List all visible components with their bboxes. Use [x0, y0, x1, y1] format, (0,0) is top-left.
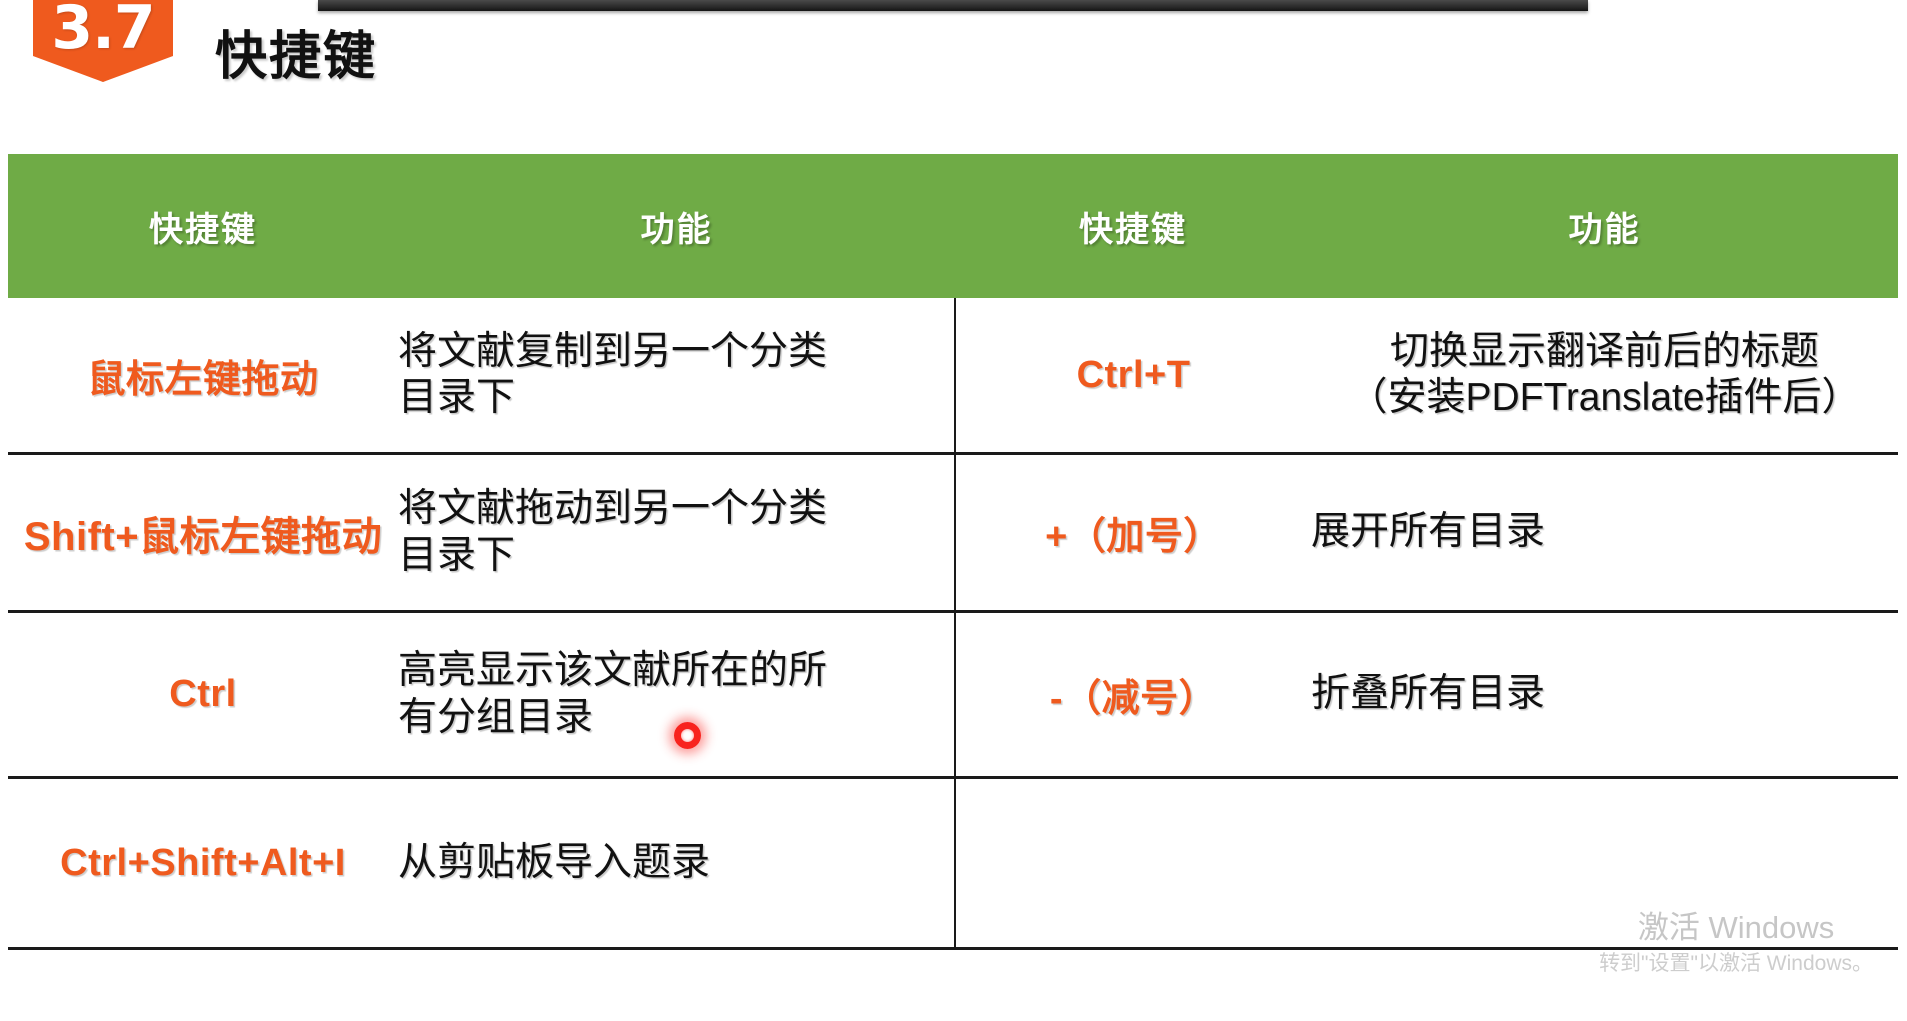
watermark-title: 激活 Windows	[1599, 910, 1873, 947]
shortcut-key-cell: 鼠标左键拖动	[8, 298, 398, 454]
table-header-row: 快捷键 功能 快捷键 功能	[8, 154, 1898, 298]
desc-line: 将文献复制到另一个分类	[398, 329, 954, 375]
section-number-badge: 3.7	[33, 0, 173, 82]
column-header-right-function: 功能	[1311, 154, 1898, 298]
shortcut-key-cell: -（减号）	[955, 612, 1311, 778]
column-header-left-function: 功能	[398, 154, 955, 298]
function-desc-cell: 折叠所有目录	[1311, 612, 1898, 778]
column-header-right-shortcut: 快捷键	[955, 154, 1311, 298]
section-number-label: 3.7	[51, 0, 154, 58]
desc-line: 有分组目录	[398, 695, 954, 741]
windows-activation-watermark: 激活 Windows 转到"设置"以激活 Windows。	[1599, 910, 1873, 977]
desc-line: 切换显示翻译前后的标题	[1311, 329, 1898, 375]
function-desc-cell: 切换显示翻译前后的标题 （安装PDFTranslate插件后）	[1311, 298, 1898, 454]
desc-line: 目录下	[398, 533, 954, 579]
desc-line: 目录下	[398, 375, 954, 421]
desc-line: 折叠所有目录	[1311, 671, 1898, 717]
slide-header: 3.7 快捷键	[0, 0, 1907, 132]
function-desc-cell: 展开所有目录	[1311, 454, 1898, 612]
column-header-left-shortcut: 快捷键	[8, 154, 398, 298]
desc-line: 将文献拖动到另一个分类	[398, 486, 954, 532]
table-row: Shift+鼠标左键拖动 将文献拖动到另一个分类 目录下 +（加号） 展开所有目…	[8, 454, 1898, 612]
desc-line: 展开所有目录	[1311, 509, 1898, 555]
table-row: Ctrl 高亮显示该文献所在的所 有分组目录 -（减号） 折叠所有目录	[8, 612, 1898, 778]
function-desc-cell: 将文献拖动到另一个分类 目录下	[398, 454, 955, 612]
shortcut-key-cell: +（加号）	[955, 454, 1311, 612]
shortcut-key-cell: Ctrl	[8, 612, 398, 778]
function-desc-cell: 从剪贴板导入题录	[398, 778, 955, 949]
page-title: 快捷键	[215, 14, 377, 89]
shortcut-table: 快捷键 功能 快捷键 功能 鼠标左键拖动 将文献复制到另一个分类 目录下 Ctr…	[8, 154, 1898, 950]
shortcut-key-cell: Shift+鼠标左键拖动	[8, 454, 398, 612]
shortcut-key-cell	[955, 778, 1311, 949]
desc-line: 从剪贴板导入题录	[398, 840, 954, 886]
desc-line: 高亮显示该文献所在的所	[398, 648, 954, 694]
desc-line: （安装PDFTranslate插件后）	[1311, 375, 1898, 421]
watermark-subtitle: 转到"设置"以激活 Windows。	[1599, 950, 1873, 977]
table-row: 鼠标左键拖动 将文献复制到另一个分类 目录下 Ctrl+T 切换显示翻译前后的标…	[8, 298, 1898, 454]
shortcut-key-cell: Ctrl+T	[955, 298, 1311, 454]
shortcut-key-cell: Ctrl+Shift+Alt+I	[8, 778, 398, 949]
function-desc-cell: 高亮显示该文献所在的所 有分组目录	[398, 612, 955, 778]
function-desc-cell: 将文献复制到另一个分类 目录下	[398, 298, 955, 454]
